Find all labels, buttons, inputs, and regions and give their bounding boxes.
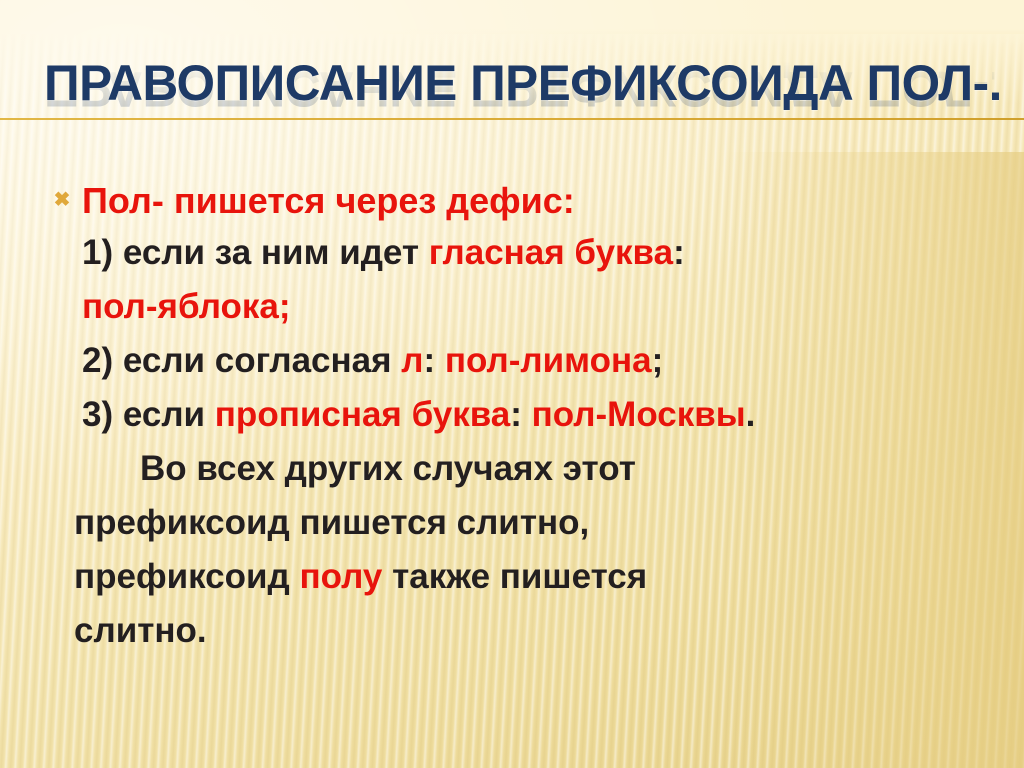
rule-line-1: 1) если за ним идет гласная буква:: [0, 226, 1024, 280]
rule-2-example: пол-лимона: [445, 341, 652, 380]
closing-line-2: префиксоид пишется слитно,: [0, 496, 1024, 550]
rule-1-example-tail: ;: [279, 287, 291, 326]
page-title: Правописание префиксоида пол-.: [44, 54, 994, 112]
rule-3-example-tail: .: [746, 395, 756, 434]
rule-2-example-tail: ;: [652, 341, 664, 380]
bullet-item-heading: ✖ Пол- пишется через дефис:: [0, 176, 1024, 226]
rule-1-highlight: гласная буква: [429, 233, 673, 272]
rule-2-lead: если согласная: [113, 341, 401, 380]
body-heading: Пол- пишется через дефис:: [82, 176, 1024, 226]
rule-line-2: 2) если согласная л: пол-лимона;: [0, 334, 1024, 388]
rule-2-number: 2): [82, 341, 113, 380]
slide-canvas: Правописание префиксоида пол-. Правописа…: [0, 0, 1024, 768]
closing-line-1: Во всех других случаях этот: [0, 442, 1024, 496]
cross-bullet-icon: ✖: [52, 190, 72, 210]
slide-body: ✖ Пол- пишется через дефис: 1) если за н…: [0, 176, 1024, 658]
rule-3-number: 3): [82, 395, 113, 434]
rule-2-highlight: л: [401, 341, 423, 380]
rule-line-3: 3) если прописная буква: пол-Москвы.: [0, 388, 1024, 442]
closing-line-3-highlight: полу: [299, 557, 382, 596]
rule-example-1: пол-яблока;: [0, 280, 1024, 334]
rule-3-lead: если: [113, 395, 215, 434]
rule-3-highlight: прописная буква: [215, 395, 510, 434]
rule-3-example: пол-Москвы: [532, 395, 746, 434]
rule-2-tail: :: [424, 341, 445, 380]
closing-line-3-prefix: префиксоид: [74, 557, 299, 596]
slide-title-area: Правописание префиксоида пол-. Правописа…: [0, 54, 1024, 172]
rule-1-lead: если за ним идет: [113, 233, 429, 272]
rule-3-tail: :: [510, 395, 531, 434]
closing-line-4: слитно.: [0, 604, 1024, 658]
rule-1-example: пол-яблока: [82, 287, 279, 326]
title-underline-rule: [0, 118, 1024, 120]
rule-1-number: 1): [82, 233, 113, 272]
rule-1-tail: :: [673, 233, 685, 272]
closing-line-3: префиксоид полу также пишется: [0, 550, 1024, 604]
closing-line-3-suffix: также пишется: [382, 557, 647, 596]
